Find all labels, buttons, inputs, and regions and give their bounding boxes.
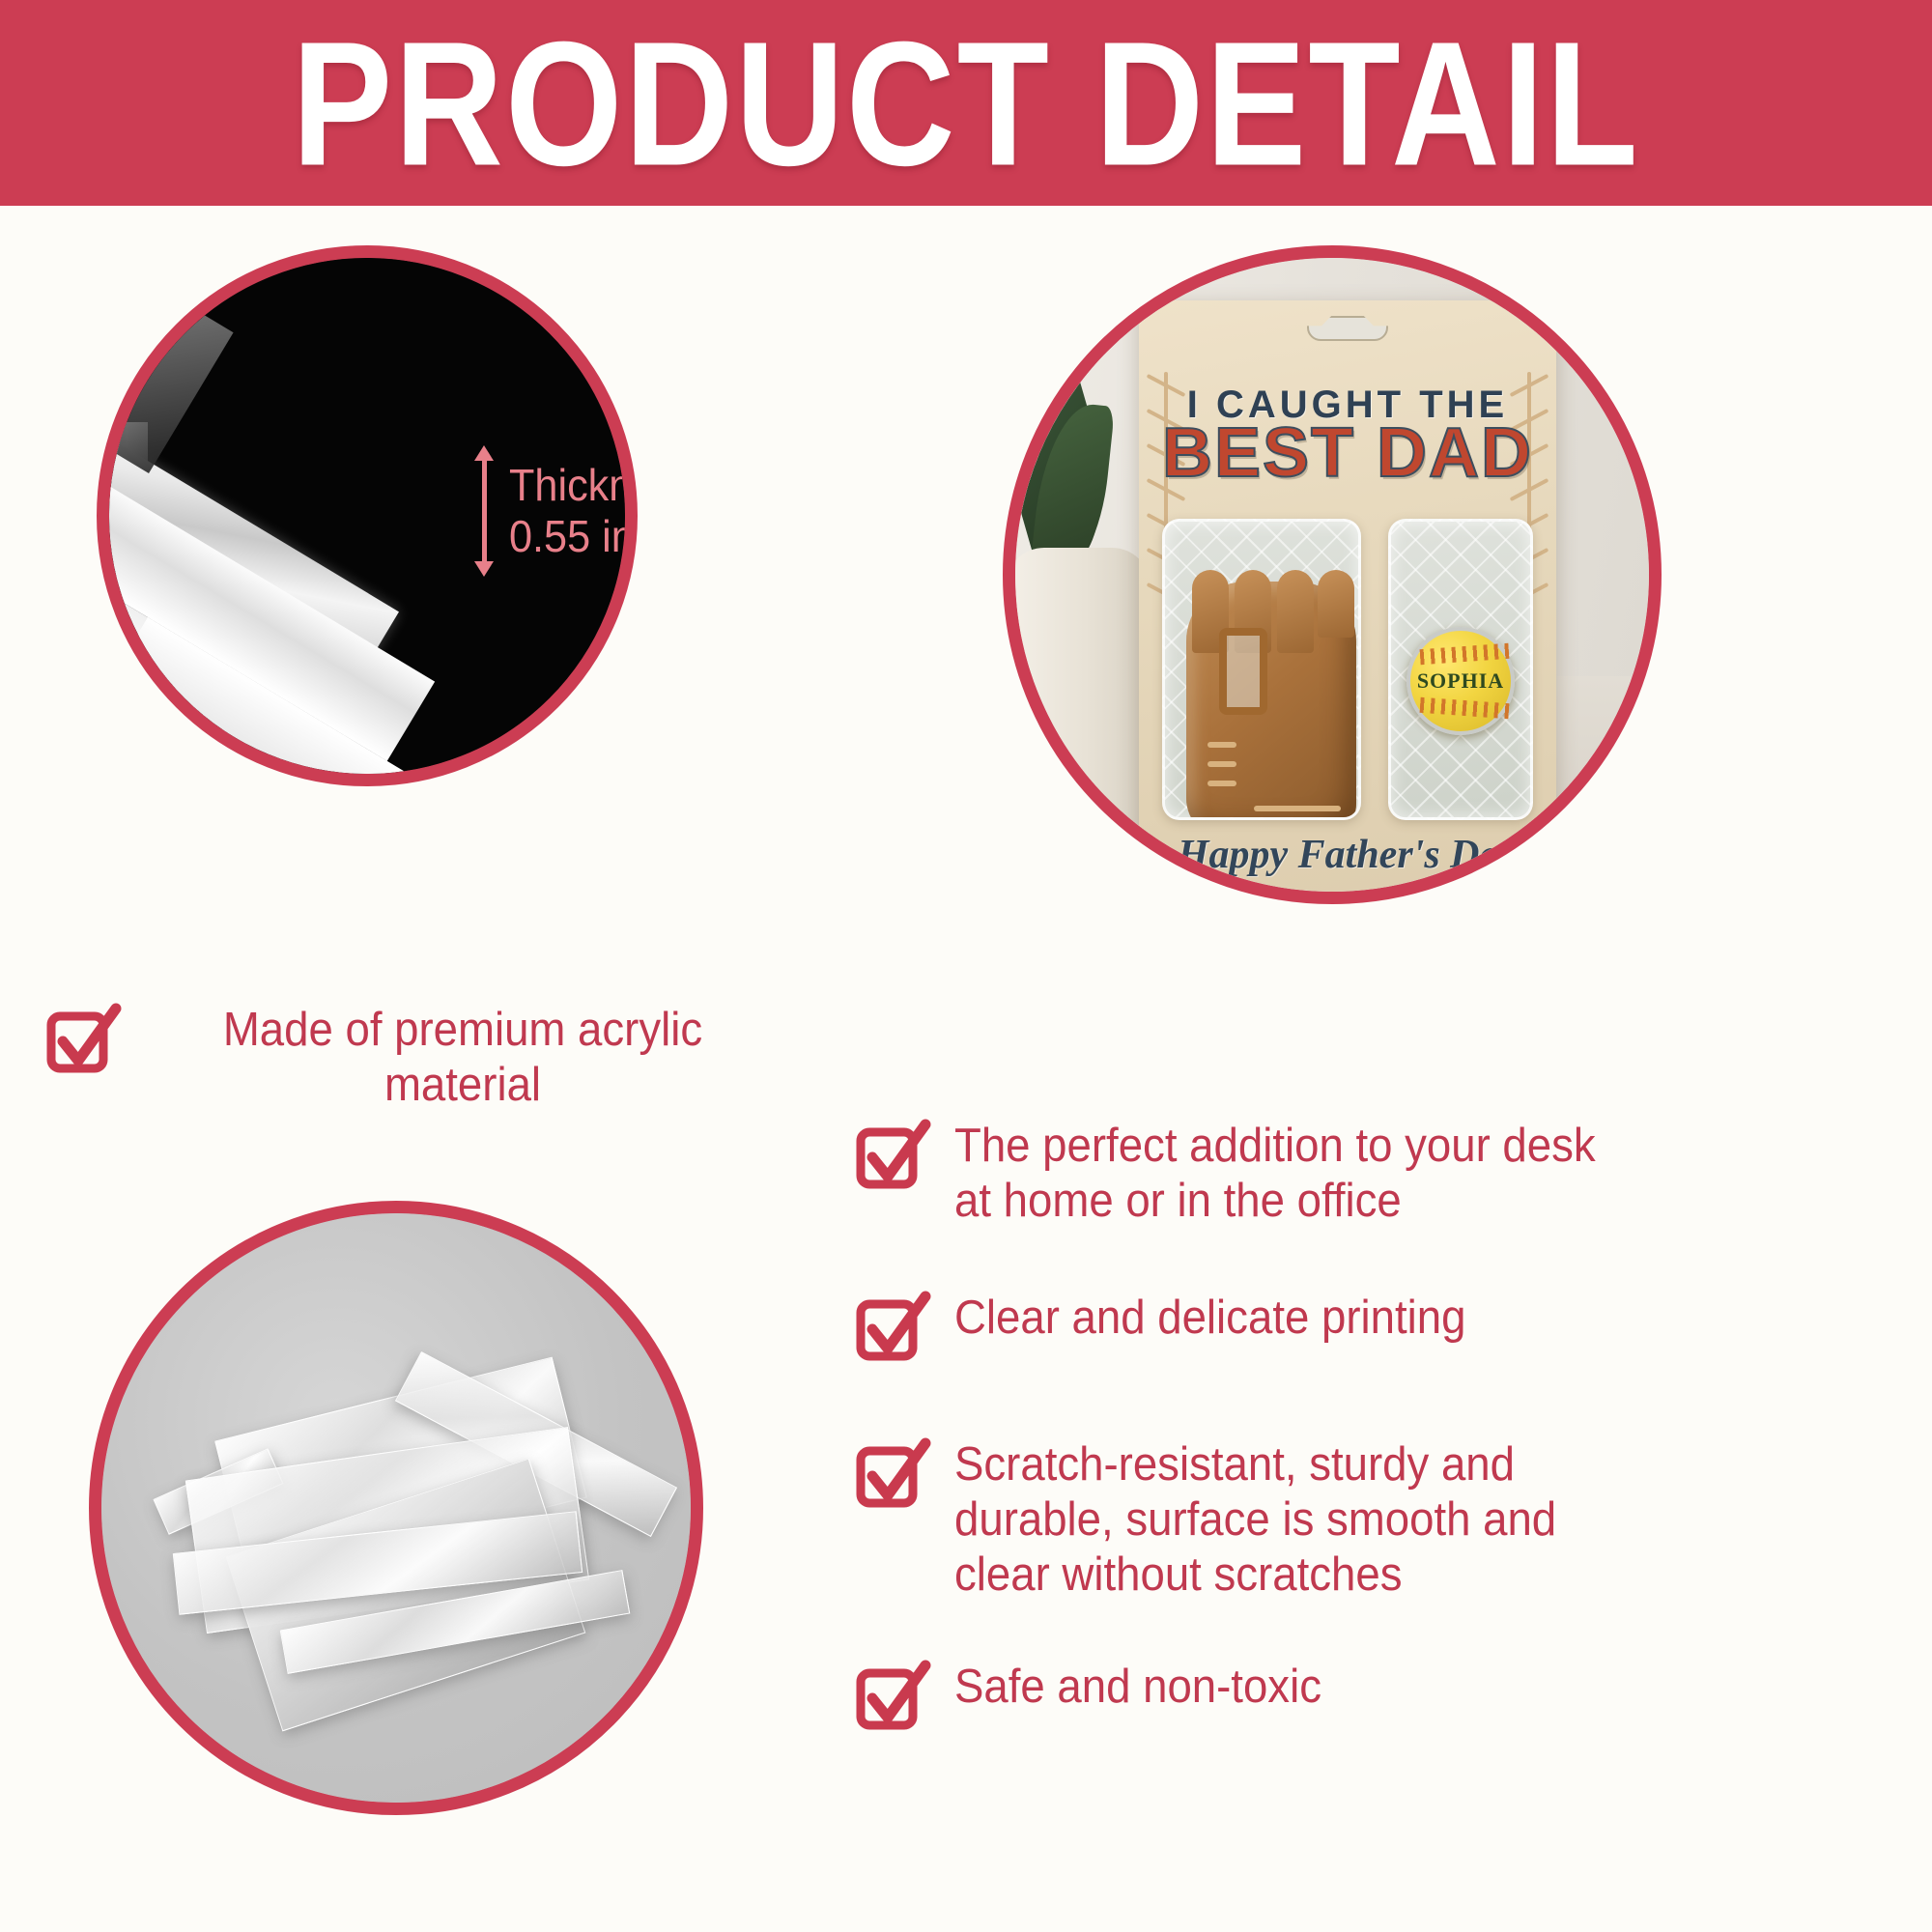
acrylic-edge-photo: Thickness 0.55 in (109, 258, 625, 774)
personalized-name: SOPHIA (1417, 668, 1504, 694)
feature-item-safe-non-toxic: Safe and non-toxic (856, 1660, 1918, 1735)
baseball-glove-icon (1186, 582, 1356, 820)
product-package-photo: I CAUGHT THE BEST DAD SO (1015, 258, 1649, 892)
blister-compartment-ball: SOPHIA (1388, 519, 1533, 820)
feature-label: The perfect addition to your desk at hom… (954, 1119, 1596, 1229)
checkbox-checked-icon (856, 1439, 929, 1513)
checkbox-checked-icon (46, 1005, 120, 1078)
checkbox-checked-icon (856, 1662, 929, 1735)
feature-label: Scratch-resistant, sturdy and durable, s… (954, 1437, 1556, 1602)
page-title: PRODUCT DETAIL (292, 14, 1640, 191)
feature-item-scratch-resistant: Scratch-resistant, sturdy and durable, s… (856, 1437, 1918, 1602)
feature-item-acrylic-material: Made of premium acrylic material (46, 1003, 781, 1113)
vase (1015, 548, 1151, 867)
acrylic-blocks-photo-circle (89, 1201, 703, 1815)
thickness-photo-circle: Thickness 0.55 in (97, 245, 638, 786)
thickness-annotation: Thickness 0.55 in (474, 445, 625, 577)
hang-tab-icon (1307, 316, 1388, 341)
header-banner: PRODUCT DETAIL (0, 0, 1932, 206)
product-package-photo-circle: I CAUGHT THE BEST DAD SO (1003, 245, 1662, 904)
thickness-label: Thickness 0.55 in (509, 460, 625, 562)
package-headline-main: BEST DAD (1139, 418, 1556, 488)
softball-seam (1420, 643, 1510, 665)
blister-compartment-glove (1162, 519, 1361, 820)
feature-label: Made of premium acrylic material (167, 1003, 758, 1113)
acrylic-reflection-wedge (109, 258, 234, 473)
blister-card: I CAUGHT THE BEST DAD SO (1139, 300, 1556, 892)
feature-label: Safe and non-toxic (954, 1660, 1321, 1715)
feature-label: Clear and delicate printing (954, 1291, 1465, 1346)
acrylic-blocks-photo (101, 1213, 691, 1803)
checkbox-checked-icon (856, 1121, 929, 1194)
softball-icon: SOPHIA (1406, 627, 1515, 735)
feature-item-clear-printing: Clear and delicate printing (856, 1291, 1918, 1366)
package-footer-text: Happy Father's Day (1139, 832, 1556, 878)
softball-seam (1420, 697, 1510, 719)
feature-item-desk-addition: The perfect addition to your desk at hom… (856, 1119, 1918, 1229)
checkbox-checked-icon (856, 1293, 929, 1366)
double-arrow-icon (474, 445, 494, 577)
